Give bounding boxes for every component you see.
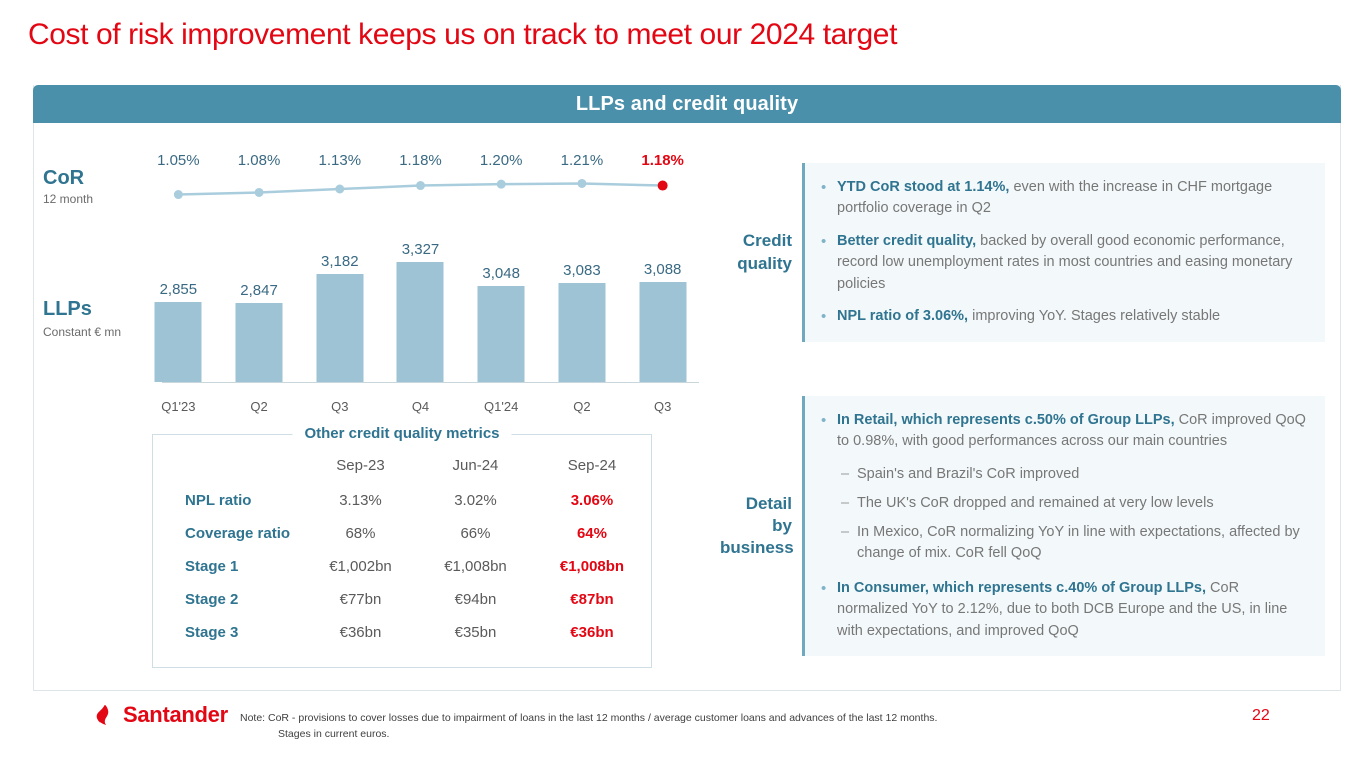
metrics-row-label: Coverage ratio — [153, 517, 303, 550]
bullet-dot-icon: • — [821, 578, 837, 642]
bullet-text: NPL ratio of 3.06%, improving YoY. Stage… — [837, 306, 1220, 328]
panel-bullet: •Better credit quality, backed by overal… — [821, 231, 1311, 295]
chart-bar — [478, 286, 525, 382]
cor-value-label: 1.18% — [380, 152, 461, 169]
chart-cor-sublabel: 12 month — [43, 192, 93, 206]
bullet-dot-icon: • — [821, 231, 837, 295]
metrics-cell-sep23: €1,002bn — [303, 550, 418, 583]
panel-bullet: •YTD CoR stood at 1.14%, even with the i… — [821, 177, 1311, 220]
metrics-cell-sep24: €36bn — [533, 616, 651, 649]
bullet-dot-icon: • — [821, 410, 837, 453]
metrics-col-jun24: Jun-24 — [418, 451, 533, 484]
chart-cor-label: CoR — [43, 167, 84, 190]
chart-bar — [558, 283, 605, 382]
sub-bullet-dash-icon: – — [841, 522, 857, 564]
llps-value-label: 3,182 — [299, 253, 380, 270]
chart-column: 1.20%3,048Q1'24 — [461, 140, 542, 430]
table-row: Stage 3€36bn€35bn€36bn — [153, 616, 651, 649]
llps-value-label: 3,048 — [461, 265, 542, 282]
metrics-col-sep24: Sep-24 — [533, 451, 651, 484]
santander-logo: Santander — [92, 702, 228, 728]
bullet-lead-text: In Consumer, which represents c.40% of G… — [837, 580, 1206, 596]
llps-value-label: 2,855 — [138, 281, 219, 298]
chart-x-tick-label: Q3 — [622, 399, 703, 414]
chart-bar — [236, 303, 283, 382]
footnote: Note: CoR - provisions to cover losses d… — [240, 711, 1100, 743]
detail-by-business-panel-title: Detail by business — [720, 493, 802, 560]
credit-quality-title-line1: Credit — [720, 230, 792, 252]
detail-title-line2: by — [720, 515, 792, 537]
detail-title-line1: Detail — [720, 493, 792, 515]
bullet-lead-text: NPL ratio of 3.06%, — [837, 308, 968, 324]
llps-value-label: 3,088 — [622, 261, 703, 278]
metrics-row-label: Stage 2 — [153, 583, 303, 616]
bullet-lead-text: YTD CoR stood at 1.14%, — [837, 179, 1009, 195]
cor-value-label: 1.20% — [461, 152, 542, 169]
chart-x-tick-label: Q1'24 — [461, 399, 542, 414]
credit-quality-panel-body: •YTD CoR stood at 1.14%, even with the i… — [802, 163, 1325, 342]
chart-llps-sublabel: Constant € mn — [43, 325, 121, 339]
table-row: Stage 1€1,002bn€1,008bn€1,008bn — [153, 550, 651, 583]
metrics-cell-jun24: €35bn — [418, 616, 533, 649]
bullet-text: In Consumer, which represents c.40% of G… — [837, 578, 1311, 642]
section-header-band: LLPs and credit quality — [33, 85, 1341, 123]
santander-flame-icon — [92, 702, 118, 728]
metrics-cell-jun24: €94bn — [418, 583, 533, 616]
bullet-text: In Retail, which represents c.50% of Gro… — [837, 410, 1311, 453]
sub-bullet-dash-icon: – — [841, 493, 857, 514]
metrics-cell-sep23: €77bn — [303, 583, 418, 616]
chart-column: 1.18%3,327Q4 — [380, 140, 461, 430]
credit-quality-panel-title: Credit quality — [720, 230, 802, 275]
cor-value-label: 1.13% — [299, 152, 380, 169]
panel-sub-bullet: –The UK's CoR dropped and remained at ve… — [841, 493, 1311, 514]
panel-bullet: •In Consumer, which represents c.40% of … — [821, 578, 1311, 642]
bullet-dot-icon: • — [821, 177, 837, 220]
sub-bullet-text: In Mexico, CoR normalizing YoY in line w… — [857, 522, 1311, 564]
llps-value-label: 3,083 — [542, 262, 623, 279]
metrics-table-title: Other credit quality metrics — [292, 425, 511, 442]
panel-bullet: •In Retail, which represents c.50% of Gr… — [821, 410, 1311, 453]
metrics-col-sep23: Sep-23 — [303, 451, 418, 484]
footnote-line-2: Stages in current euros. — [240, 727, 1100, 743]
metrics-cell-sep23: 68% — [303, 517, 418, 550]
table-row: Stage 2€77bn€94bn€87bn — [153, 583, 651, 616]
metrics-cell-sep24: 64% — [533, 517, 651, 550]
credit-quality-title-line2: quality — [720, 253, 792, 275]
metrics-row-label: Stage 3 — [153, 616, 303, 649]
cor-value-label: 1.18% — [622, 152, 703, 169]
metrics-cell-sep24: €1,008bn — [533, 550, 651, 583]
cor-value-label: 1.05% — [138, 152, 219, 169]
footnote-line-1: Note: CoR - provisions to cover losses d… — [240, 711, 1100, 727]
metrics-col-blank — [153, 451, 303, 484]
santander-logo-text: Santander — [123, 702, 228, 728]
chart-x-tick-label: Q2 — [219, 399, 300, 414]
chart-x-tick-label: Q3 — [299, 399, 380, 414]
metrics-cell-jun24: 3.02% — [418, 484, 533, 517]
bullet-text: Better credit quality, backed by overall… — [837, 231, 1311, 295]
chart-llps-label: LLPs — [43, 298, 92, 321]
cor-value-label: 1.08% — [219, 152, 300, 169]
chart-bar — [155, 302, 202, 382]
chart-x-tick-label: Q2 — [542, 399, 623, 414]
chart-bar — [397, 262, 444, 382]
bullet-text: YTD CoR stood at 1.14%, even with the in… — [837, 177, 1311, 220]
cor-value-label: 1.21% — [542, 152, 623, 169]
chart-x-tick-label: Q4 — [380, 399, 461, 414]
metrics-cell-sep23: €36bn — [303, 616, 418, 649]
detail-title-line3: business — [720, 537, 792, 559]
sub-bullet-text: Spain's and Brazil's CoR improved — [857, 464, 1079, 485]
table-row: Coverage ratio68%66%64% — [153, 517, 651, 550]
page-title: Cost of risk improvement keeps us on tra… — [28, 18, 897, 52]
chart-column: 1.21%3,083Q2 — [542, 140, 623, 430]
metrics-cell-jun24: 66% — [418, 517, 533, 550]
metrics-cell-sep24: €87bn — [533, 583, 651, 616]
metrics-table-header-row: Sep-23 Jun-24 Sep-24 — [153, 451, 651, 484]
metrics-table: Sep-23 Jun-24 Sep-24 NPL ratio3.13%3.02%… — [153, 451, 651, 649]
llps-cor-chart: CoR 12 month LLPs Constant € mn 1.05%2,8… — [33, 140, 713, 430]
chart-x-tick-label: Q1'23 — [138, 399, 219, 414]
panel-sub-bullet: –In Mexico, CoR normalizing YoY in line … — [841, 522, 1311, 564]
sub-bullet-text: The UK's CoR dropped and remained at ver… — [857, 493, 1214, 514]
chart-plot-area: 1.05%2,855Q1'231.08%2,847Q21.13%3,182Q31… — [138, 140, 703, 430]
metrics-cell-sep24: 3.06% — [533, 484, 651, 517]
section-header-title: LLPs and credit quality — [576, 93, 798, 116]
bullet-dot-icon: • — [821, 306, 837, 328]
table-row: NPL ratio3.13%3.02%3.06% — [153, 484, 651, 517]
credit-quality-panel: Credit quality •YTD CoR stood at 1.14%, … — [720, 163, 1325, 342]
detail-by-business-panel-body: •In Retail, which represents c.50% of Gr… — [802, 396, 1325, 656]
bullet-lead-text: Better credit quality, — [837, 233, 976, 249]
bullet-lead-text: In Retail, which represents c.50% of Gro… — [837, 412, 1175, 428]
llps-value-label: 3,327 — [380, 241, 461, 258]
metrics-row-label: Stage 1 — [153, 550, 303, 583]
panel-bullet: •NPL ratio of 3.06%, improving YoY. Stag… — [821, 306, 1311, 328]
metrics-cell-jun24: €1,008bn — [418, 550, 533, 583]
metrics-cell-sep23: 3.13% — [303, 484, 418, 517]
chart-column: 1.08%2,847Q2 — [219, 140, 300, 430]
panel-sub-bullet: –Spain's and Brazil's CoR improved — [841, 464, 1311, 485]
detail-by-business-panel: Detail by business •In Retail, which rep… — [720, 396, 1325, 656]
metrics-row-label: NPL ratio — [153, 484, 303, 517]
chart-bar — [639, 282, 686, 382]
sub-bullet-dash-icon: – — [841, 464, 857, 485]
chart-column: 1.18%3,088Q3 — [622, 140, 703, 430]
chart-bar — [316, 274, 363, 382]
other-credit-quality-metrics-box: Other credit quality metrics Sep-23 Jun-… — [152, 434, 652, 668]
chart-column: 1.13%3,182Q3 — [299, 140, 380, 430]
llps-value-label: 2,847 — [219, 282, 300, 299]
page-number: 22 — [1252, 707, 1270, 725]
chart-column: 1.05%2,855Q1'23 — [138, 140, 219, 430]
